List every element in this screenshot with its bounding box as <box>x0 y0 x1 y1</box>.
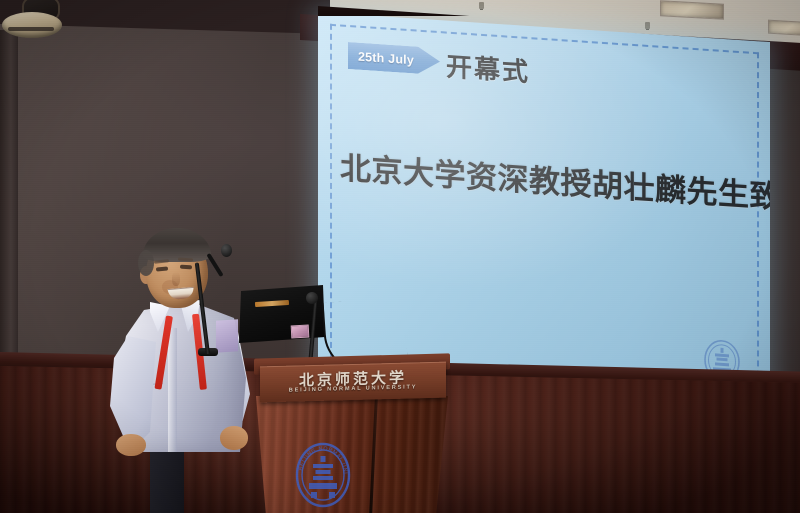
speaker-eye-right <box>180 265 192 270</box>
light-slot <box>8 27 54 31</box>
speaker-left-hand <box>116 434 146 456</box>
podium-highlight <box>250 396 454 513</box>
wall-light-icon <box>2 0 66 40</box>
podium: BEIJING NORMAL UNIVERSITY 北京师范大学 BEIJING… <box>238 356 464 513</box>
slide-section-title: 开幕式 <box>446 47 530 90</box>
light-rim <box>2 12 62 38</box>
ceiling-vent-icon <box>768 20 800 37</box>
microphone-capsule-icon <box>221 244 232 257</box>
date-tag-label: 25th July <box>358 49 414 67</box>
photo-scene: 25th July 开幕式 北京大学资深教授胡壮麟先生致辞 <box>0 0 800 513</box>
desk-object <box>216 319 238 353</box>
microphone-capsule-secondary-icon <box>306 292 318 304</box>
shirt-placket <box>168 328 177 452</box>
wall-left-strip <box>0 30 18 360</box>
speaker-trousers <box>150 452 184 513</box>
speaker-nose <box>172 272 180 286</box>
laptop-sticker <box>291 325 310 339</box>
speaker-hair-side <box>138 250 154 276</box>
bnu-seal-icon: BEIJING NORMAL UNIVERSITY <box>294 442 352 508</box>
